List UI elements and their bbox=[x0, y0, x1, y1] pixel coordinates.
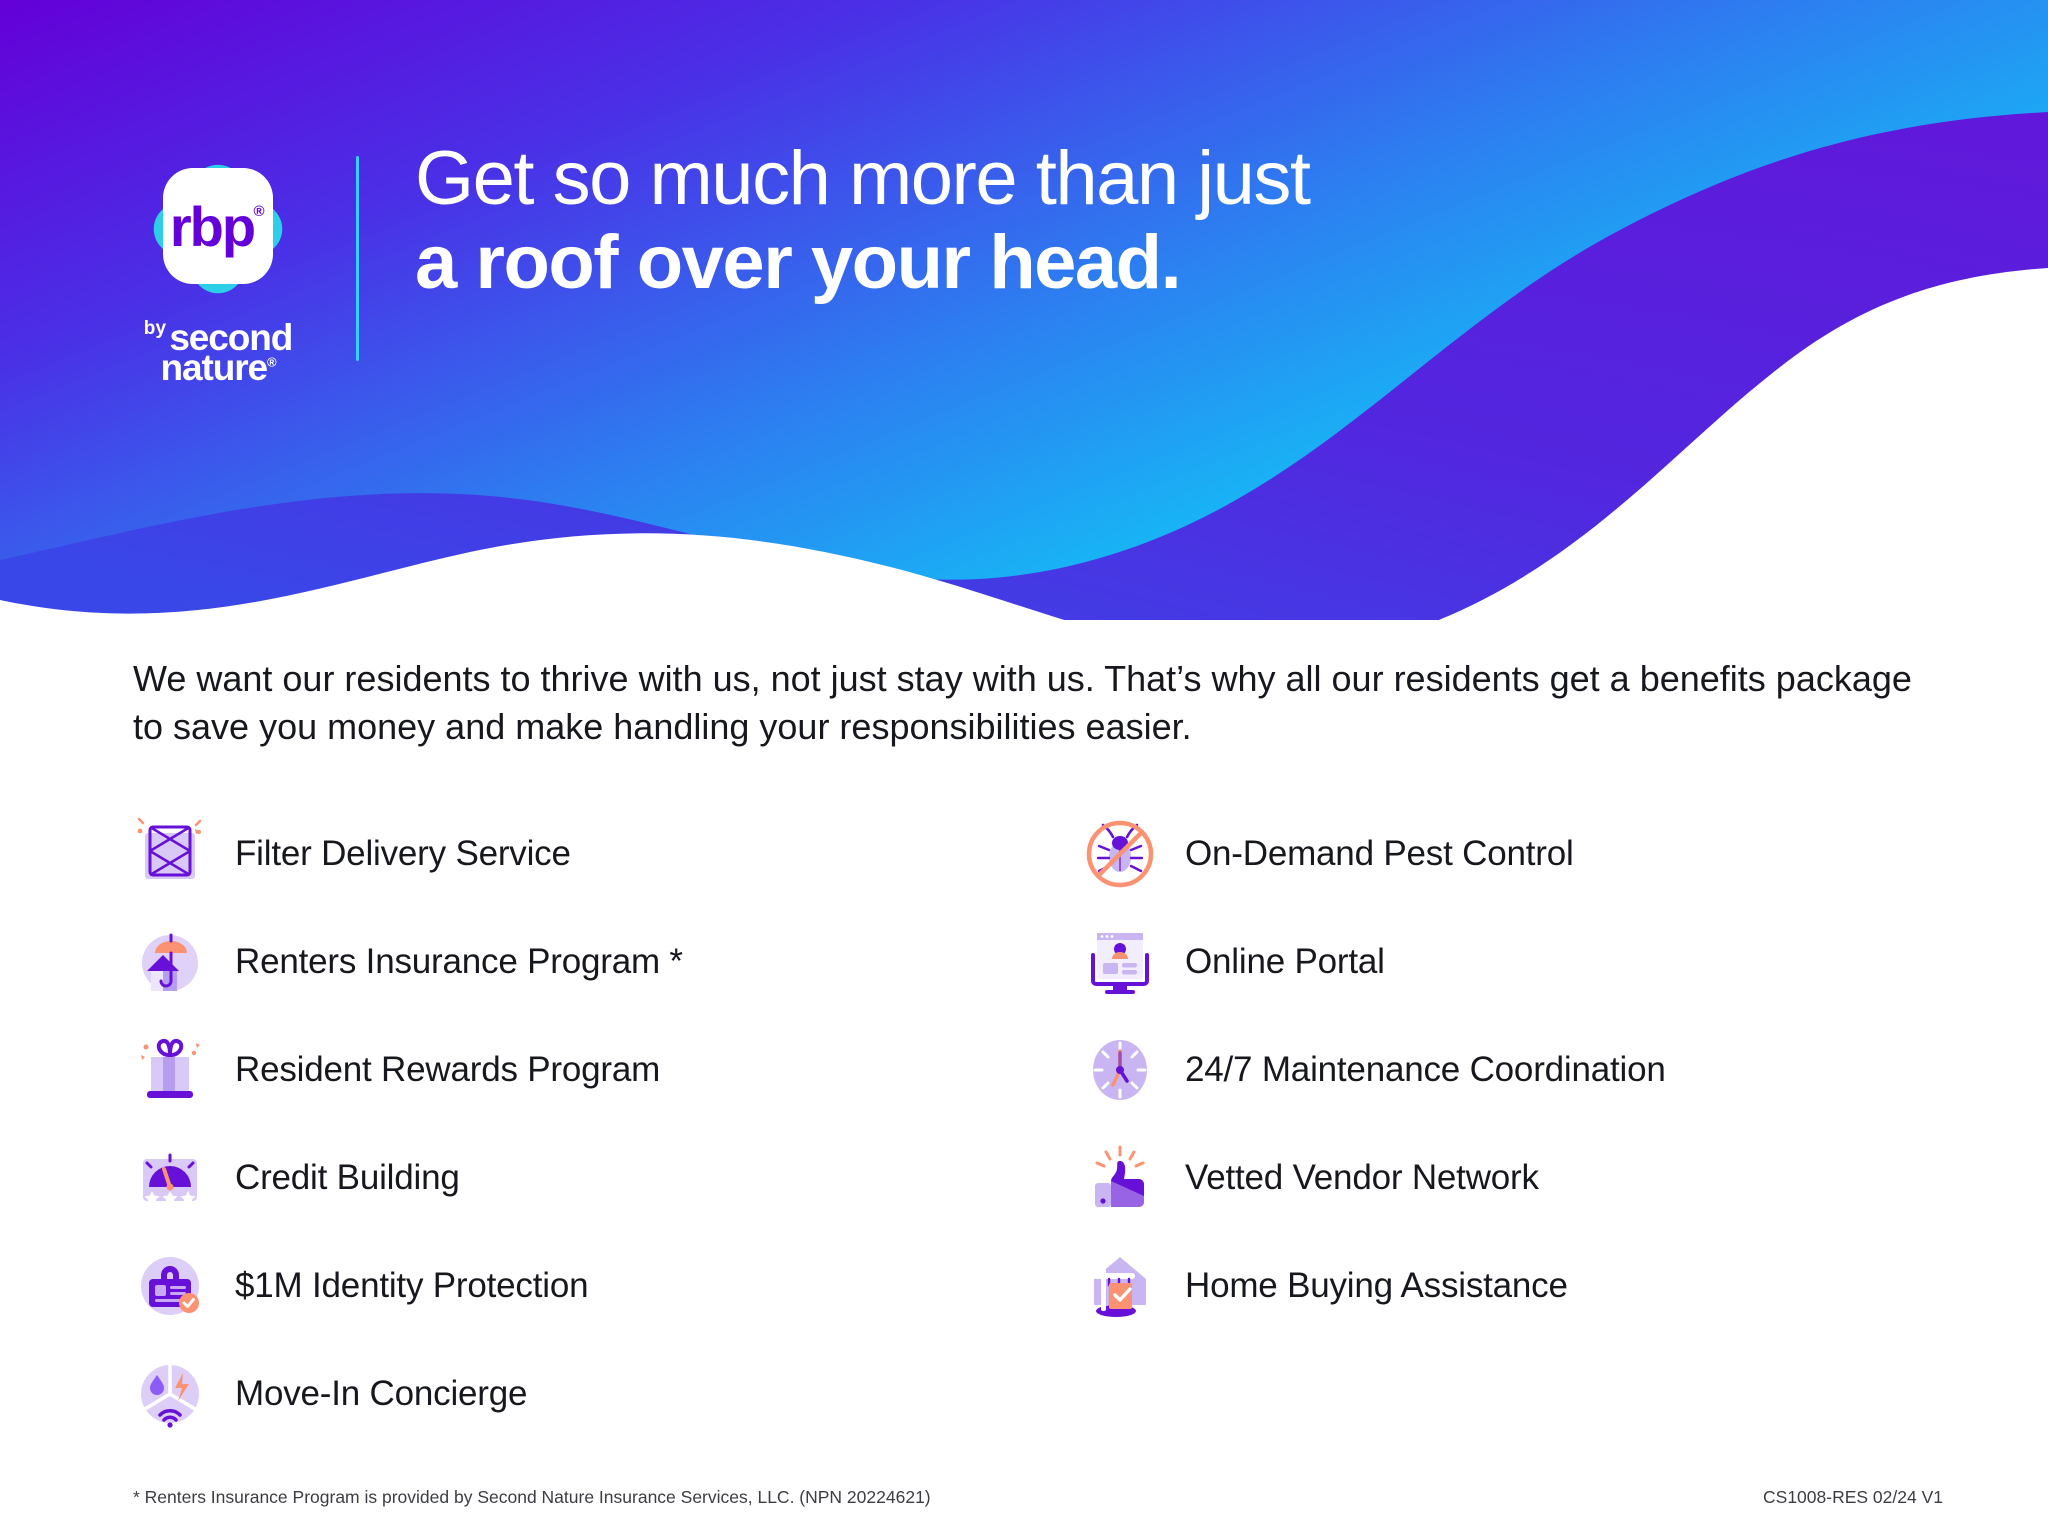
footer: * Renters Insurance Program is provided … bbox=[133, 1487, 1943, 1508]
logo-registered-mark: ® bbox=[267, 355, 275, 370]
intro-paragraph: We want our residents to thrive with us,… bbox=[133, 655, 1913, 750]
headline-line-1: Get so much more than just bbox=[415, 140, 1310, 218]
benefit-label: Move-In Concierge bbox=[235, 1374, 527, 1414]
brand-logo: rbp ® bysecond nature® bbox=[128, 140, 308, 385]
monitor-portal-icon bbox=[1083, 925, 1157, 999]
home-sign-check-icon bbox=[1083, 1249, 1157, 1323]
svg-text:rbp: rbp bbox=[170, 195, 254, 258]
benefit-item-home-buying: Home Buying Assistance bbox=[1083, 1232, 1923, 1340]
credit-gauge-icon bbox=[133, 1141, 207, 1215]
logo-by-label: by bbox=[144, 320, 167, 338]
utilities-setup-icon bbox=[133, 1357, 207, 1431]
air-filter-icon bbox=[133, 817, 207, 891]
benefit-label: Vetted Vendor Network bbox=[1185, 1158, 1539, 1198]
benefit-item-pest-control: On-Demand Pest Control bbox=[1083, 800, 1923, 908]
page-title: Get so much more than just a roof over y… bbox=[415, 140, 1310, 307]
umbrella-house-icon bbox=[133, 925, 207, 999]
benefit-item-maintenance: 24/7 Maintenance Coordination bbox=[1083, 1016, 1923, 1124]
benefit-label: On-Demand Pest Control bbox=[1185, 834, 1574, 874]
no-pest-icon bbox=[1083, 817, 1157, 891]
id-badge-lock-icon bbox=[133, 1249, 207, 1323]
second-nature-wordmark: bysecond nature® bbox=[144, 320, 293, 385]
clock-icon bbox=[1083, 1033, 1157, 1107]
svg-text:®: ® bbox=[253, 203, 264, 220]
benefits-left-column: Filter Delivery Service Renters Insuranc… bbox=[133, 800, 1083, 1448]
benefit-label: Home Buying Assistance bbox=[1185, 1266, 1568, 1306]
benefit-label: Filter Delivery Service bbox=[235, 834, 571, 874]
benefit-item-vetted-vendors: Vetted Vendor Network bbox=[1083, 1124, 1923, 1232]
benefit-label: Online Portal bbox=[1185, 942, 1385, 982]
benefit-label: Credit Building bbox=[235, 1158, 460, 1198]
header-banner: rbp ® bysecond nature® Get so much more … bbox=[0, 0, 2048, 620]
benefits-list: Filter Delivery Service Renters Insuranc… bbox=[133, 800, 1923, 1448]
benefit-item-credit-building: Credit Building bbox=[133, 1124, 1083, 1232]
footer-document-code: CS1008-RES 02/24 V1 bbox=[1763, 1487, 1943, 1508]
header-divider bbox=[356, 156, 359, 361]
rbp-logo-mark: rbp ® bbox=[143, 154, 293, 304]
logo-name-line2: nature® bbox=[144, 350, 293, 385]
benefit-item-resident-rewards: Resident Rewards Program bbox=[133, 1016, 1083, 1124]
header-content: rbp ® bysecond nature® Get so much more … bbox=[128, 140, 1310, 385]
benefits-right-column: On-Demand Pest Control bbox=[1083, 800, 1923, 1448]
benefit-item-online-portal: Online Portal bbox=[1083, 908, 1923, 1016]
thumbs-up-icon bbox=[1083, 1141, 1157, 1215]
headline-line-2: a roof over your head. bbox=[415, 218, 1310, 308]
benefit-label: 24/7 Maintenance Coordination bbox=[1185, 1050, 1666, 1090]
benefit-item-filter-delivery: Filter Delivery Service bbox=[133, 800, 1083, 908]
rbp-badge-icon: rbp ® bbox=[143, 154, 293, 304]
benefit-item-identity-protection: $1M Identity Protection bbox=[133, 1232, 1083, 1340]
footer-disclaimer: * Renters Insurance Program is provided … bbox=[133, 1487, 931, 1508]
benefit-item-renters-insurance: Renters Insurance Program * bbox=[133, 908, 1083, 1016]
gift-box-icon bbox=[133, 1033, 207, 1107]
benefit-label: $1M Identity Protection bbox=[235, 1266, 588, 1306]
benefit-item-move-in-concierge: Move-In Concierge bbox=[133, 1340, 1083, 1448]
benefit-label: Renters Insurance Program * bbox=[235, 942, 683, 982]
benefit-label: Resident Rewards Program bbox=[235, 1050, 660, 1090]
